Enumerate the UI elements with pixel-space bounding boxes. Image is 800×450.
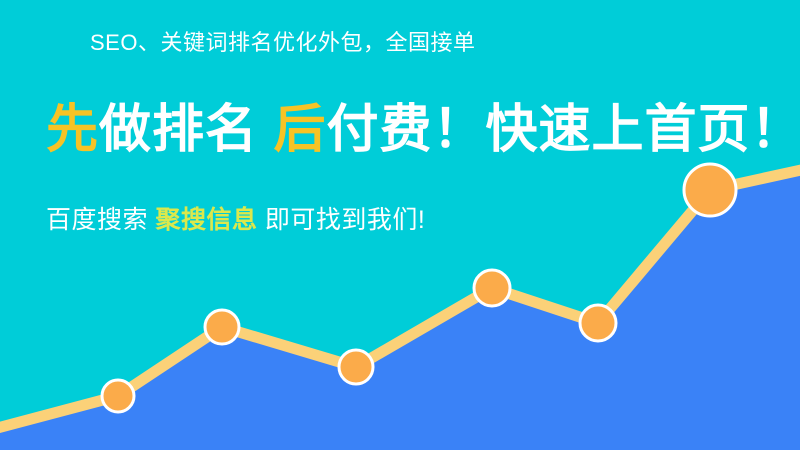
brand-name: 聚搜信息 <box>155 206 257 234</box>
banner-headline: 先做排名 后付费！快速上首页！ <box>46 99 800 161</box>
chart-data-point <box>580 305 616 341</box>
chart-data-point <box>205 310 239 344</box>
headline-text-fourth: 付费！快速上首页！ <box>326 101 800 159</box>
headline-text-second: 做排名 <box>99 101 273 159</box>
chart-data-point <box>474 270 510 306</box>
headline-highlight-third: 后 <box>273 101 326 159</box>
banner-tagline: SEO、关键词排名优化外包，全国接单 <box>90 28 475 58</box>
chart-data-point <box>102 380 134 412</box>
subline-suffix: 即可找到我们! <box>257 206 425 234</box>
seo-promo-banner: SEO、关键词排名优化外包，全国接单 先做排名 后付费！快速上首页！ 百度搜索 … <box>0 0 800 450</box>
chart-data-point <box>339 350 373 384</box>
banner-subline: 百度搜索 聚搜信息 即可找到我们! <box>46 203 425 237</box>
chart-data-point <box>684 164 736 216</box>
subline-prefix: 百度搜索 <box>46 206 155 234</box>
headline-highlight-first: 先 <box>46 101 99 159</box>
